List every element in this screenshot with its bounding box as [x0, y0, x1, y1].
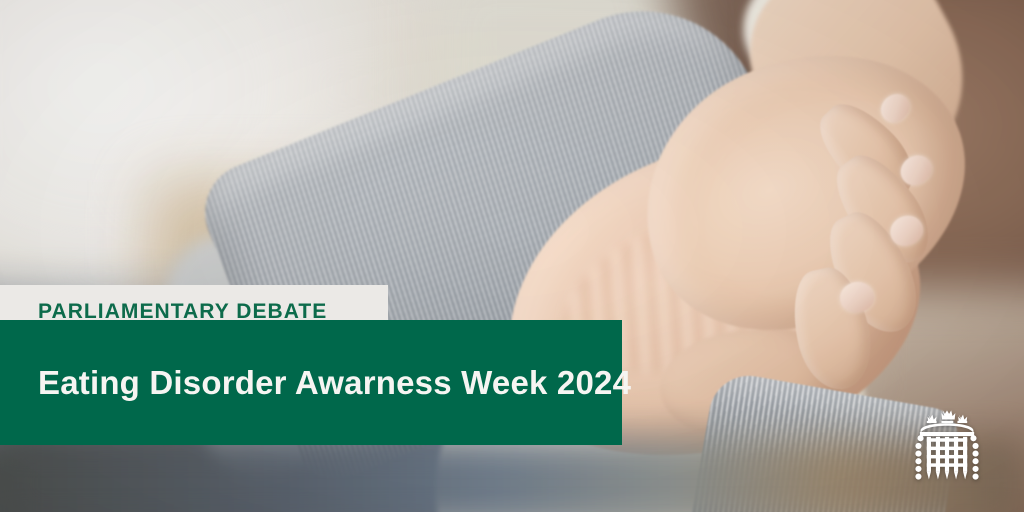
promotional-graphic: PARLIAMENTARY DEBATE Eating Disorder Awa… [0, 0, 1024, 512]
portcullis-icon [912, 409, 982, 487]
page-title: Eating Disorder Awarness Week 2024 [38, 364, 631, 402]
title-banner: Eating Disorder Awarness Week 2024 [0, 320, 622, 445]
